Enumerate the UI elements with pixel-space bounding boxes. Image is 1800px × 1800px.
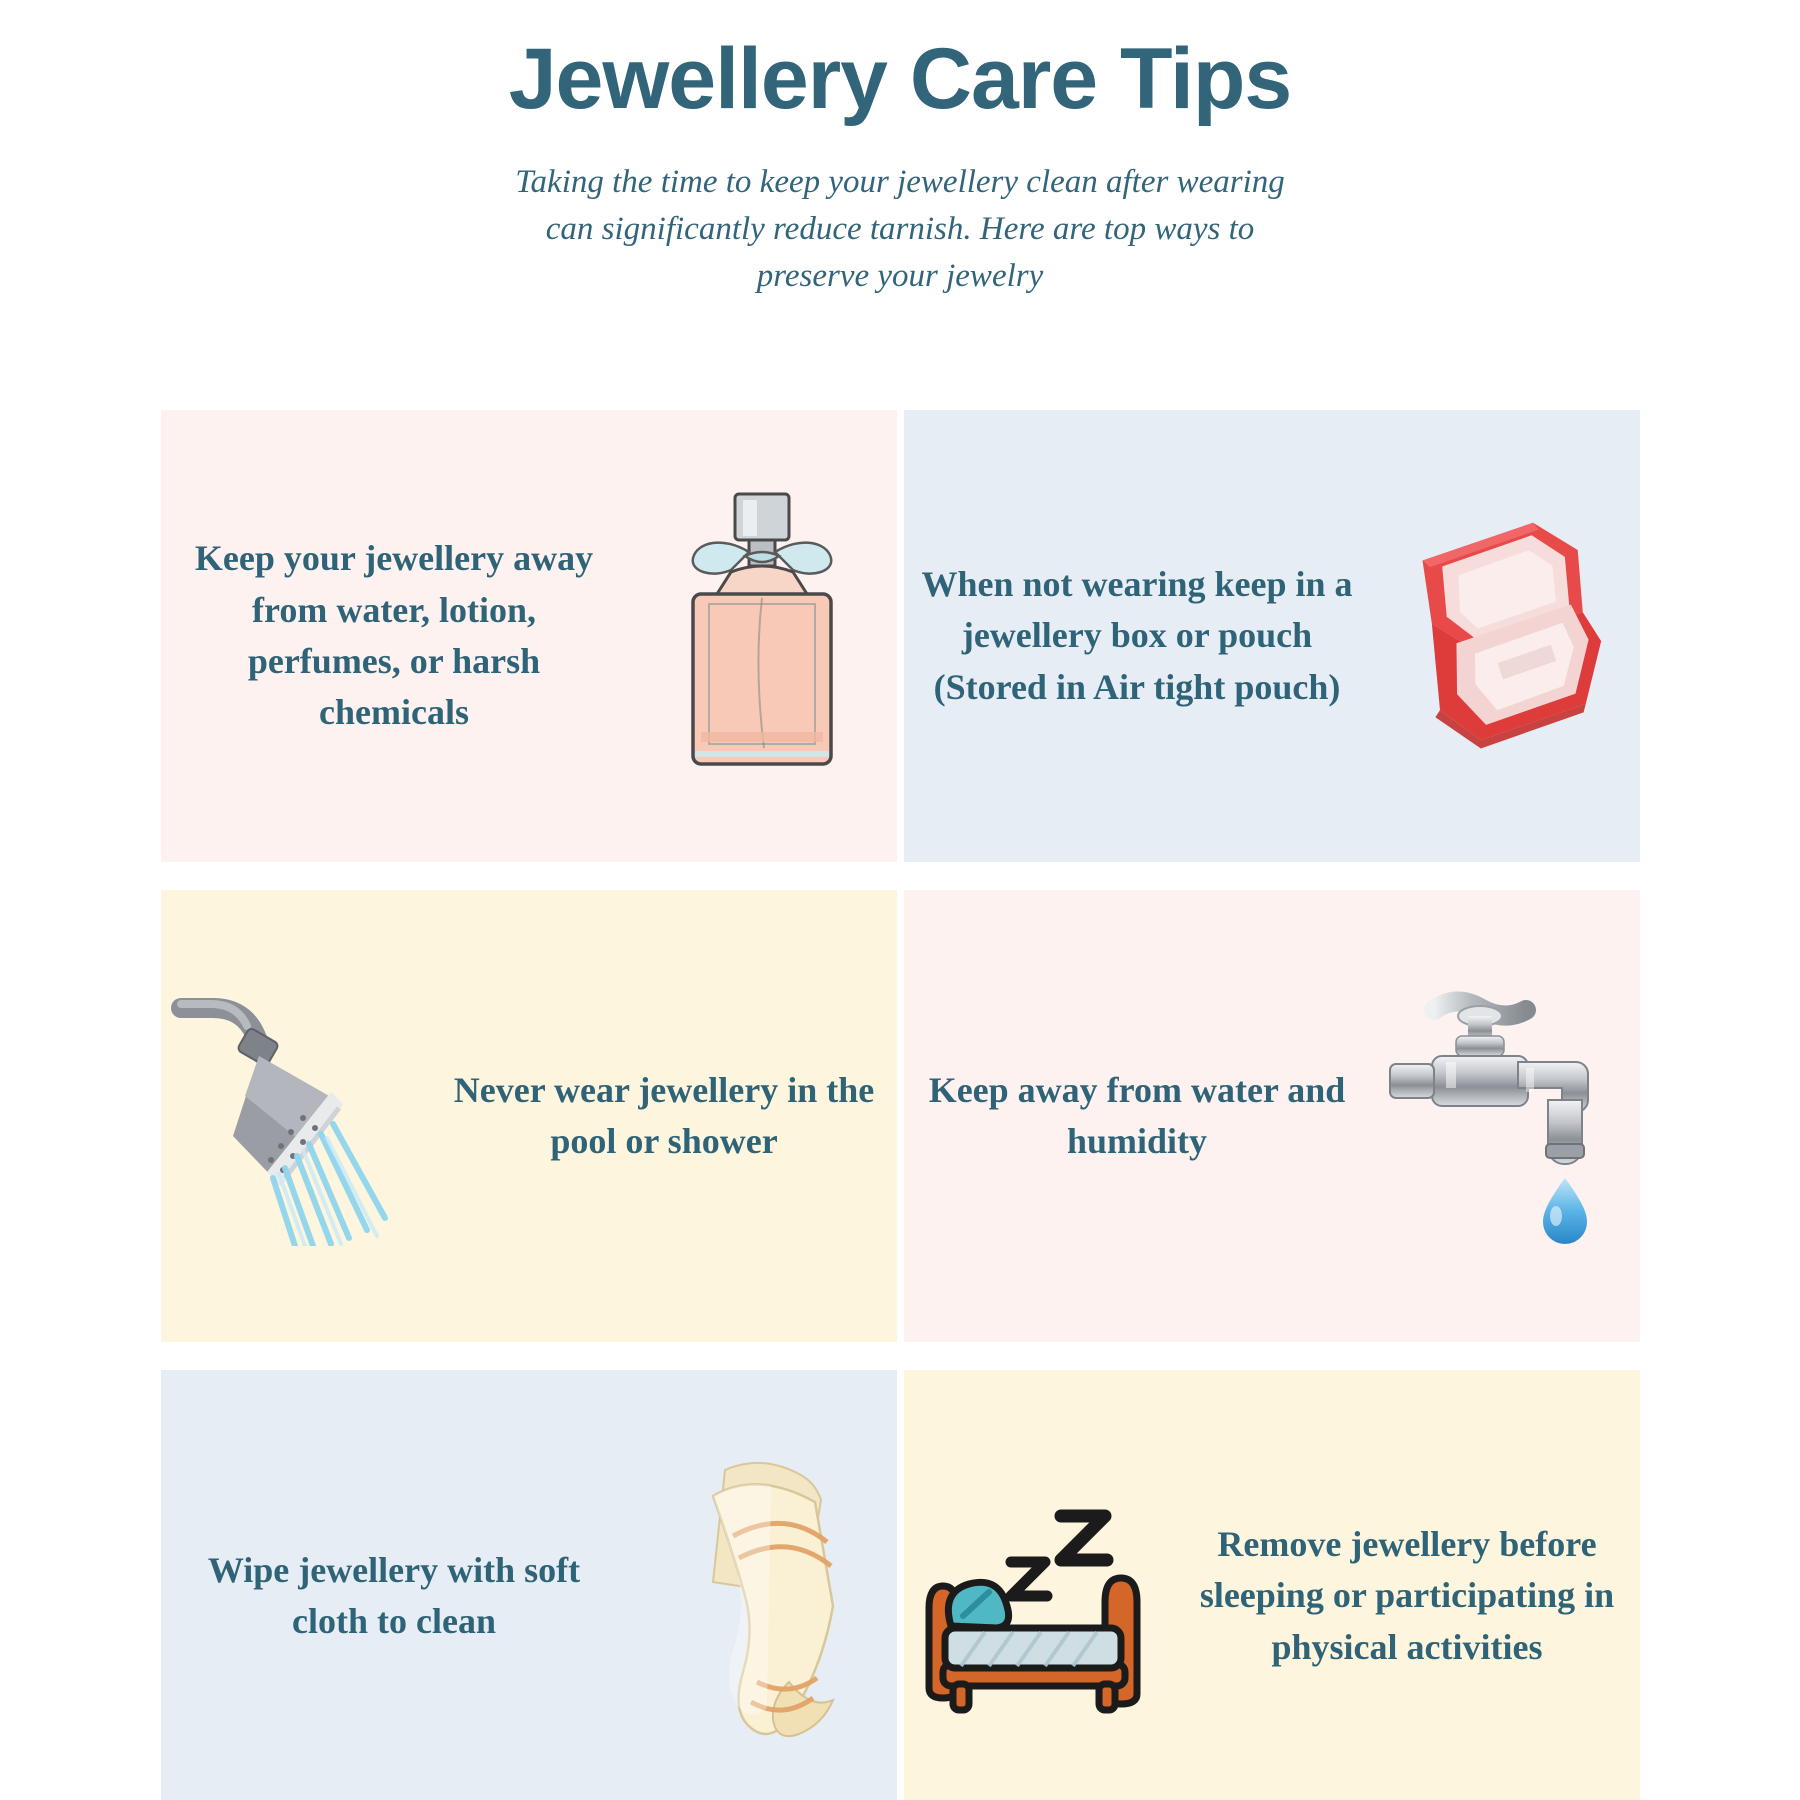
tip-card-shower: Never wear jewellery in the pool or show…: [161, 890, 897, 1342]
tip-card-storage-text: When not wearing keep in a jewellery box…: [904, 559, 1370, 713]
tip-card-cloth-text: Wipe jewellery with soft cloth to clean: [161, 1545, 627, 1648]
perfume-bottle-icon: [627, 486, 897, 786]
cloth-icon: [627, 1446, 897, 1746]
tip-card-sleep: Remove jewellery before sleeping or part…: [904, 1370, 1640, 1800]
tip-card-storage: When not wearing keep in a jewellery box…: [904, 410, 1640, 862]
ring-box-icon: [1370, 486, 1640, 786]
tips-grid: Keep your jewellery away from water, lot…: [161, 410, 1640, 1800]
faucet-icon: [1370, 966, 1640, 1266]
shower-head-icon: [161, 966, 431, 1266]
tip-card-humidity-text: Keep away from water and humidity: [904, 1065, 1370, 1168]
infographic-page: Jewellery Care Tips Taking the time to k…: [0, 0, 1800, 1800]
tip-card-shower-text: Never wear jewellery in the pool or show…: [431, 1065, 897, 1168]
tip-card-cloth: Wipe jewellery with soft cloth to clean: [161, 1370, 897, 1800]
tip-card-chemicals: Keep your jewellery away from water, lot…: [161, 410, 897, 862]
tip-card-sleep-text: Remove jewellery before sleeping or part…: [1174, 1519, 1640, 1673]
tip-card-humidity: Keep away from water and humidity: [904, 890, 1640, 1342]
page-subtitle: Taking the time to keep your jewellery c…: [500, 129, 1300, 300]
tip-card-chemicals-text: Keep your jewellery away from water, lot…: [161, 533, 627, 739]
header: Jewellery Care Tips Taking the time to k…: [0, 0, 1800, 299]
bed-sleep-icon: [904, 1446, 1174, 1746]
page-title: Jewellery Care Tips: [0, 0, 1800, 129]
